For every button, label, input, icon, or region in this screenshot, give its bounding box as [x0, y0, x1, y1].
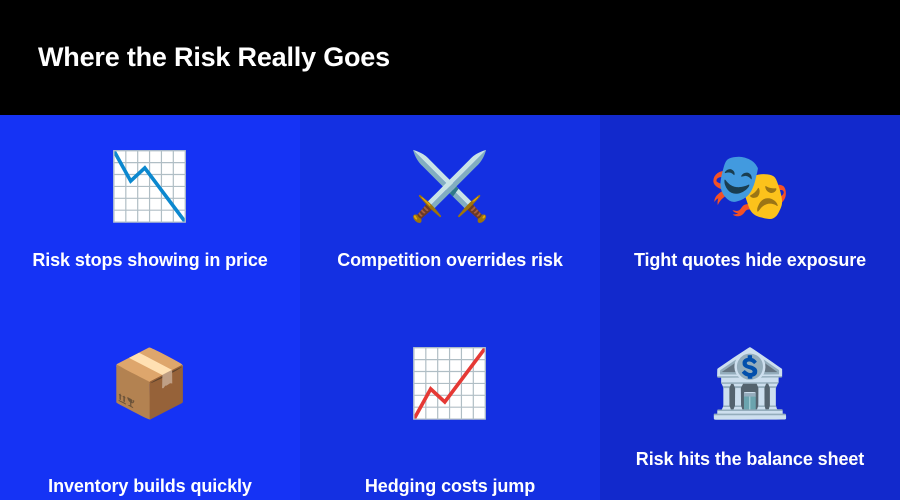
package-box-icon: 📦 — [109, 338, 191, 430]
performing-arts-masks-icon: 🎭 — [709, 141, 791, 233]
risk-card-label: Risk hits the balance sheet — [600, 446, 900, 473]
risk-card-label: Competition overrides risk — [300, 247, 600, 274]
risk-card-label: Hedging costs jump — [300, 473, 600, 500]
chart-increasing-icon: 📈 — [409, 338, 491, 430]
risk-card-3[interactable]: 🎭 Tight quotes hide exposure — [600, 115, 900, 308]
risk-card-1[interactable]: 📉 Risk stops showing in price — [0, 115, 300, 308]
risk-card-2[interactable]: ⚔️ Competition overrides risk — [300, 115, 600, 308]
risk-card-label: Risk stops showing in price — [0, 247, 300, 274]
chart-decreasing-icon: 📉 — [109, 141, 191, 233]
risk-card-5[interactable]: 📈 Hedging costs jump — [300, 308, 600, 500]
risk-card-label: Tight quotes hide exposure — [600, 247, 900, 274]
crossed-swords-icon: ⚔️ — [409, 141, 491, 233]
risk-card-label: Inventory builds quickly — [0, 473, 300, 500]
risk-card-6[interactable]: 🏦 Risk hits the balance sheet — [600, 308, 900, 500]
page-title: Where the Risk Really Goes — [38, 43, 390, 73]
bank-building-icon: 🏦 — [709, 338, 791, 430]
slide-header: Where the Risk Really Goes — [0, 0, 900, 115]
risk-card-4[interactable]: 📦 Inventory builds quickly — [0, 308, 300, 500]
risk-card-grid: 📉 Risk stops showing in price ⚔️ Competi… — [0, 115, 900, 500]
slide-root: Where the Risk Really Goes 📉 Risk stops … — [0, 0, 900, 500]
